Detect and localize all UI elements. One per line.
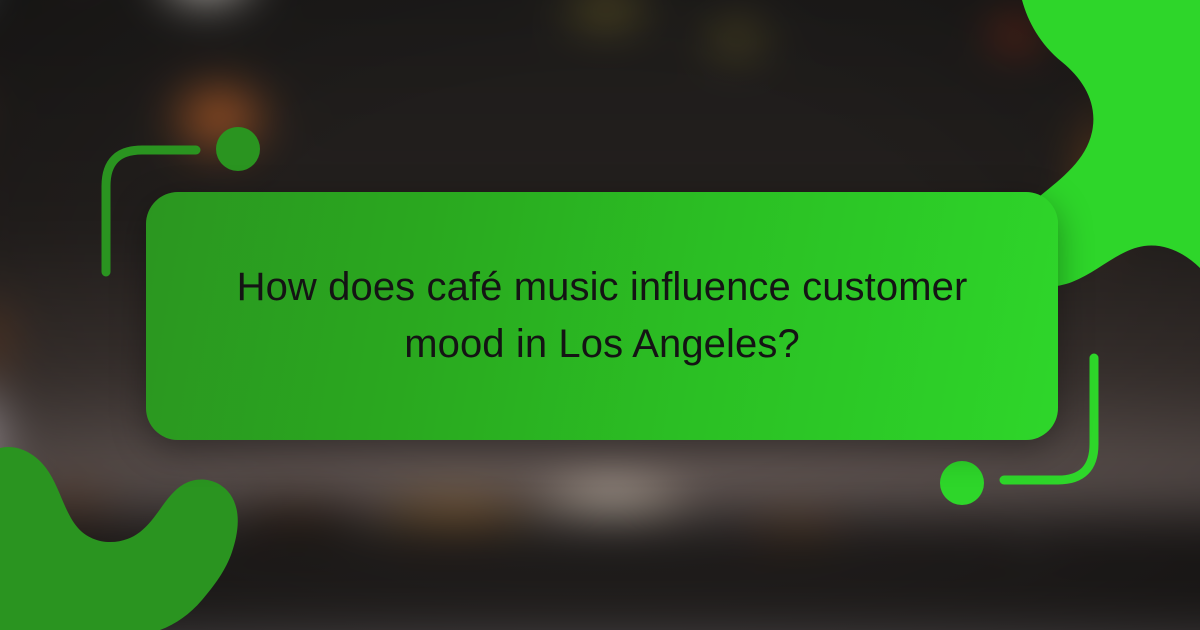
question-card: How does café music influence customer m… xyxy=(146,192,1058,440)
question-card-graphic: How does café music influence customer m… xyxy=(0,0,1200,630)
bottom-left-blob-shape xyxy=(0,447,238,630)
question-text: How does café music influence customer m… xyxy=(222,259,982,373)
top-left-dot-icon xyxy=(216,127,260,171)
bottom-right-dot-icon xyxy=(940,461,984,505)
